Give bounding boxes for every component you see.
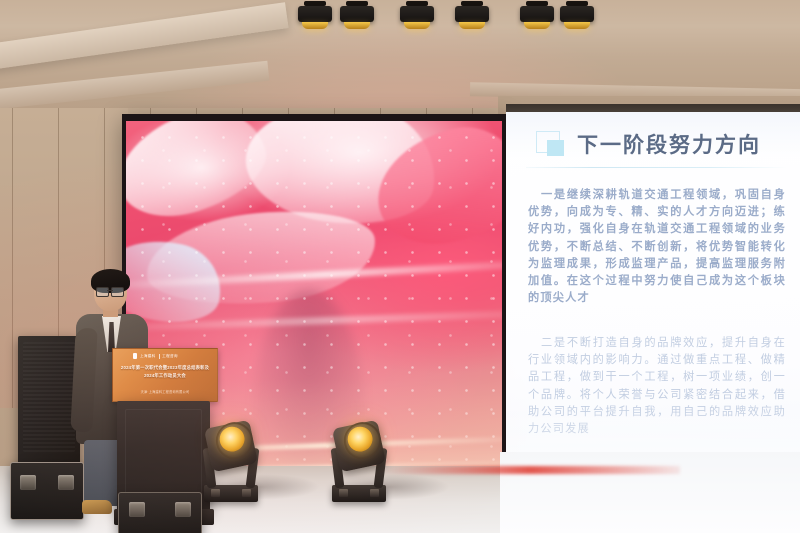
truss-light-4: [455, 0, 489, 29]
truss-light-3: [400, 0, 434, 29]
truss-light-5: [520, 0, 554, 29]
person-shoe: [82, 500, 112, 514]
square-bullet-icon: [536, 131, 567, 158]
slide-title-divider: [526, 167, 788, 168]
company-mark-icon: [133, 353, 137, 359]
podium-banner: 上海建科 工程咨询 2024年第一次职代会暨2023年度总结表彰及2024年工作…: [112, 348, 218, 402]
floor-red-light-reflection: [380, 466, 680, 474]
podium-logo-left: 上海建科: [140, 354, 156, 359]
slide-paragraph-1: 一是继续深耕轨道交通工程领域，巩固自身优势，向成为专、精、实的人才方向迈进；练好…: [528, 186, 786, 306]
road-case-front: [118, 492, 202, 533]
moving-head-light-2: [328, 420, 390, 502]
podium-logo-right: 工程咨询: [162, 354, 178, 359]
light-head: [332, 420, 386, 473]
stage-floor-right: [500, 452, 800, 533]
podium-subline: 天津·上海建科工程咨询有限公司: [118, 389, 212, 394]
slide-paragraph-2: 二是不断打造自身的品牌效应，提升自身在行业领域内的影响力。通过做重点工程、做精品…: [528, 334, 786, 437]
podium-headline: 2024年第一次职代会暨2023年度总结表彰及2024年工作动员大会: [118, 364, 212, 380]
truss-light-6: [560, 0, 594, 29]
road-case-left: [10, 462, 84, 520]
eyeglasses-icon: [96, 287, 124, 295]
podium-logo: 上海建科 工程咨询: [133, 353, 178, 359]
truss-light-2: [340, 0, 374, 29]
slide-title-row: 下一阶段努力方向: [536, 129, 761, 159]
conference-stage-photo: 下一阶段努力方向 一是继续深耕轨道交通工程领域，巩固自身优势，向成为专、精、实的…: [0, 0, 800, 533]
truss-light-1: [298, 0, 332, 29]
light-head: [204, 420, 258, 473]
moving-head-light-1: [200, 420, 262, 502]
slide-title: 下一阶段努力方向: [577, 129, 761, 159]
